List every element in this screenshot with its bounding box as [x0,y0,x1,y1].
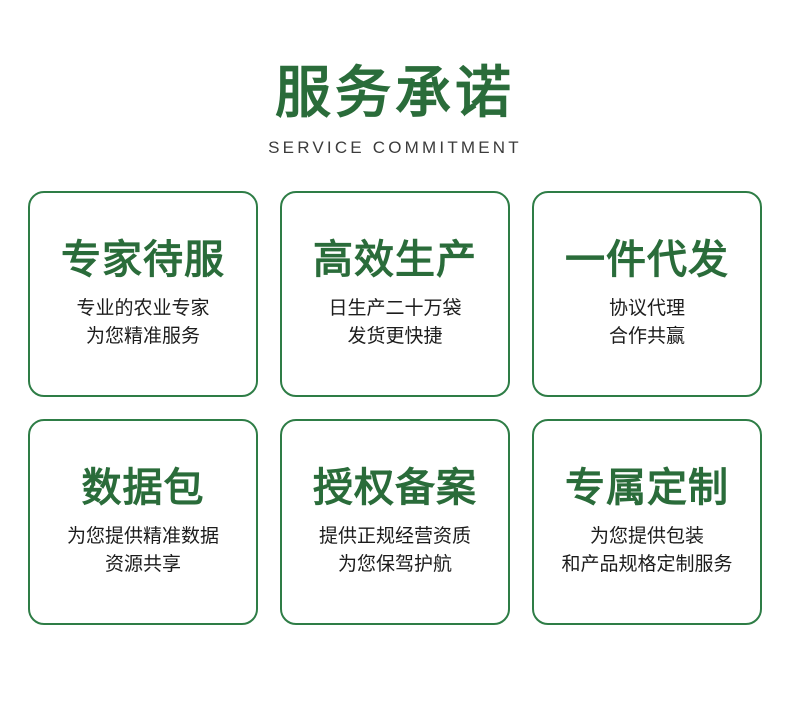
card-description: 为您提供包装 和产品规格定制服务 [561,523,732,578]
card-description-line: 协议代理 [609,295,685,323]
card-title: 高效生产 [313,238,477,282]
service-commitment-page: 服务承诺 SERVICE COMMITMENT 专家待服 专业的农业专家 为您精… [0,0,790,712]
card-title: 专属定制 [565,466,729,510]
card-title: 数据包 [82,466,205,510]
card-description-line: 和产品规格定制服务 [561,551,732,579]
card-description-line: 为您精准服务 [76,323,209,351]
card-description-line: 日生产二十万袋 [328,295,461,323]
card-title: 专家待服 [61,238,225,282]
commitment-card-exclusive-customization: 专属定制 为您提供包装 和产品规格定制服务 [532,419,762,625]
card-description-line: 资源共享 [67,551,219,579]
card-description: 专业的农业专家 为您精准服务 [76,295,209,350]
card-title: 一件代发 [565,238,729,282]
commitment-card-expert-service: 专家待服 专业的农业专家 为您精准服务 [28,191,258,397]
commitment-card-grid: 专家待服 专业的农业专家 为您精准服务 高效生产 日生产二十万袋 发货更快捷 一… [28,191,762,625]
card-description-line: 合作共赢 [609,323,685,351]
card-title: 授权备案 [313,466,477,510]
card-description: 提供正规经营资质 为您保驾护航 [319,523,471,578]
card-description-line: 为您提供包装 [561,523,732,551]
page-title: 服务承诺 [0,62,790,126]
card-description-line: 提供正规经营资质 [319,523,471,551]
card-description-line: 为您提供精准数据 [67,523,219,551]
page-header: 服务承诺 SERVICE COMMITMENT [0,0,790,158]
card-description: 日生产二十万袋 发货更快捷 [328,295,461,350]
commitment-card-dropshipping: 一件代发 协议代理 合作共赢 [532,191,762,397]
commitment-card-data-package: 数据包 为您提供精准数据 资源共享 [28,419,258,625]
card-description-line: 专业的农业专家 [76,295,209,323]
card-description: 为您提供精准数据 资源共享 [67,523,219,578]
card-description-line: 为您保驾护航 [319,551,471,579]
card-description: 协议代理 合作共赢 [609,295,685,350]
card-description-line: 发货更快捷 [328,323,461,351]
page-subtitle: SERVICE COMMITMENT [0,138,790,158]
commitment-card-efficient-production: 高效生产 日生产二十万袋 发货更快捷 [280,191,510,397]
commitment-card-authorization-filing: 授权备案 提供正规经营资质 为您保驾护航 [280,419,510,625]
